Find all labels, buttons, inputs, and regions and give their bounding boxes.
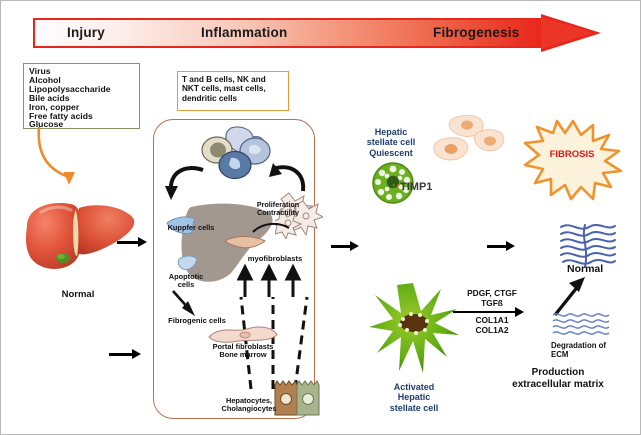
production-line1: Production	[532, 367, 585, 378]
hsc-q-line1: Hepatic	[375, 127, 408, 137]
immune-text-line2: NKT cells, mast cells,	[182, 84, 288, 93]
stage-label-injury: Injury	[67, 25, 105, 40]
hsc-q-line2: stellate cell	[367, 137, 416, 147]
portal-line2: Bone marrow	[219, 350, 266, 359]
collagen-genes-below-arrow: COL1A1 COL1A2	[457, 316, 527, 335]
figure-canvas: Injury Inflammation Fibrogenesis Virus A…	[0, 0, 641, 435]
degraded-ecm-matrix-illustration	[551, 311, 613, 339]
etiology-list-box: Virus Alcohol Lipopolysaccharide Bile ac…	[23, 63, 140, 129]
immune-text-line3: dendritic cells	[182, 94, 288, 103]
growth-factors-above-arrow: PDGF, CTGF TGFß	[457, 289, 527, 308]
timp-up-arrows-icon: ↑↑	[391, 181, 400, 193]
arrow-liver-to-panel-lower	[109, 349, 143, 360]
gene-col1a2: COL1A2	[475, 325, 508, 335]
hsc-a-line1: Activated	[394, 382, 435, 392]
arrow-panel-to-hsc	[331, 241, 361, 252]
gene-col1a1: COL1A1	[475, 315, 508, 325]
label-production-extracellular-matrix: Production extracellular matrix	[479, 367, 637, 390]
banner-arrowhead-inner	[541, 17, 593, 49]
fibrosis-label: FIBROSIS	[537, 149, 607, 160]
hsc-q-line3: Quiescent	[369, 148, 413, 158]
label-kupffer-cells: Kuppfer cells	[159, 223, 223, 232]
hsc-a-line2: Hepatic	[398, 392, 431, 402]
etiology-to-liver-arrow-icon	[35, 125, 105, 197]
contractility-line: Contractility	[257, 208, 299, 217]
arrow-hsc-to-matrix	[487, 241, 517, 252]
liver-normal-label: Normal	[23, 289, 133, 300]
immune-text-line1: T and B cells, NK and	[182, 75, 288, 84]
fibrosis-starburst-icon	[521, 119, 625, 201]
pale-flattened-cells-illustration	[429, 113, 509, 169]
label-hepatocytes-cholangiocytes: Hepatocytes, Cholangiocytes	[211, 397, 287, 413]
hsc-a-line3: stellate cell	[390, 403, 439, 413]
timp1-upregulation-label: ↑↑TIMP1	[391, 181, 432, 193]
arrow-liver-to-panel	[117, 237, 147, 248]
timp-label: TIMP1	[400, 181, 432, 193]
stage-label-fibrogenesis: Fibrogenesis	[433, 25, 519, 40]
arrow-apoptotic-to-fibrogenic	[167, 289, 207, 319]
label-quiescent-hepatic-stellate-cell: Hepatic stellate cell Quiescent	[353, 127, 429, 158]
label-degradation-of-ecm: Degradation of ECM	[551, 341, 635, 359]
label-proliferation-contractility: Proliferation Contractility	[249, 201, 307, 217]
immune-cell-types-box: T and B cells, NK and NKT cells, mast ce…	[177, 71, 289, 111]
activated-hsc-illustration	[367, 279, 461, 379]
degradation-line2: ECM	[551, 350, 568, 359]
apoptotic-line2: cells	[178, 280, 194, 289]
label-myofibroblasts: myofibroblasts	[239, 254, 311, 263]
degradation-line1: Degradation of	[551, 341, 606, 350]
progression-arrow-banner: Injury Inflammation Fibrogenesis	[33, 15, 611, 51]
label-apoptotic-cells: Apoptotic cells	[163, 273, 209, 289]
stage-label-inflammation: Inflammation	[201, 25, 287, 40]
gf-pdgf-ctgf: PDGF, CTGF	[467, 288, 517, 298]
curved-arrow-left-icon	[163, 164, 207, 206]
hepato-line2: Cholangiocytes	[221, 404, 276, 413]
label-portal-fibroblasts: Portal fibroblasts Bone marrow	[203, 343, 283, 359]
label-activated-hepatic-stellate-cell: Activated Hepatic stellate cell	[371, 382, 457, 413]
production-line2: extracellular matrix	[512, 379, 604, 390]
proliferation-arrow-icon	[249, 218, 293, 238]
